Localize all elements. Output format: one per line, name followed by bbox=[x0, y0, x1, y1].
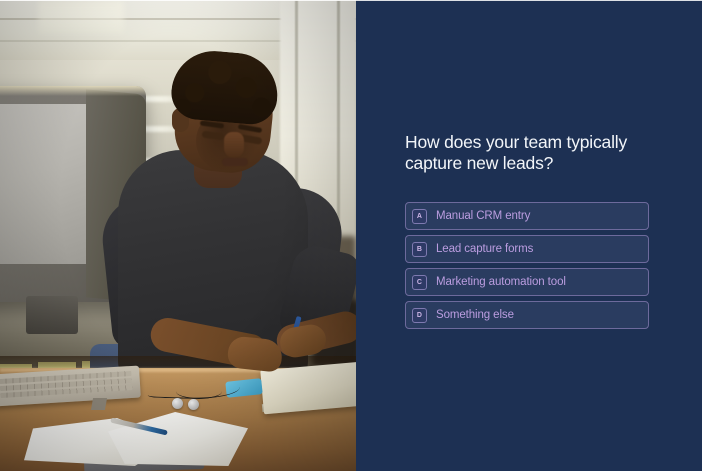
window-glow bbox=[38, 0, 124, 34]
option-key-badge: B bbox=[412, 242, 427, 257]
answer-option-d[interactable]: D Something else bbox=[405, 301, 649, 329]
question-title: How does your team typically capture new… bbox=[405, 132, 677, 174]
option-key-badge: C bbox=[412, 275, 427, 290]
person-nose bbox=[224, 132, 244, 158]
answer-option-a[interactable]: A Manual CRM entry bbox=[405, 202, 649, 230]
frame-right-edge bbox=[702, 0, 706, 471]
person-mouth bbox=[222, 158, 248, 166]
earbud bbox=[188, 399, 199, 410]
office-desk-photo bbox=[0, 0, 356, 471]
question-panel: How does your team typically capture new… bbox=[356, 0, 702, 471]
answer-options-list: A Manual CRM entry B Lead capture forms … bbox=[405, 202, 649, 334]
option-label: Lead capture forms bbox=[436, 243, 533, 255]
monitor-stand bbox=[26, 296, 78, 334]
monitor-highlight bbox=[0, 86, 146, 96]
option-label: Marketing automation tool bbox=[436, 276, 566, 288]
answer-option-b[interactable]: B Lead capture forms bbox=[405, 235, 649, 263]
answer-option-c[interactable]: C Marketing automation tool bbox=[405, 268, 649, 296]
slide-root: How does your team typically capture new… bbox=[0, 0, 706, 471]
frame-top-edge bbox=[0, 0, 706, 1]
option-key-badge: D bbox=[412, 308, 427, 323]
option-key-badge: A bbox=[412, 209, 427, 224]
keyboard-stand bbox=[91, 398, 107, 410]
earbud bbox=[172, 398, 183, 409]
earbud-cable bbox=[176, 384, 222, 399]
photo-scene bbox=[0, 0, 356, 471]
option-label: Something else bbox=[436, 309, 514, 321]
monitor-back-panel bbox=[0, 104, 92, 264]
option-label: Manual CRM entry bbox=[436, 210, 530, 222]
